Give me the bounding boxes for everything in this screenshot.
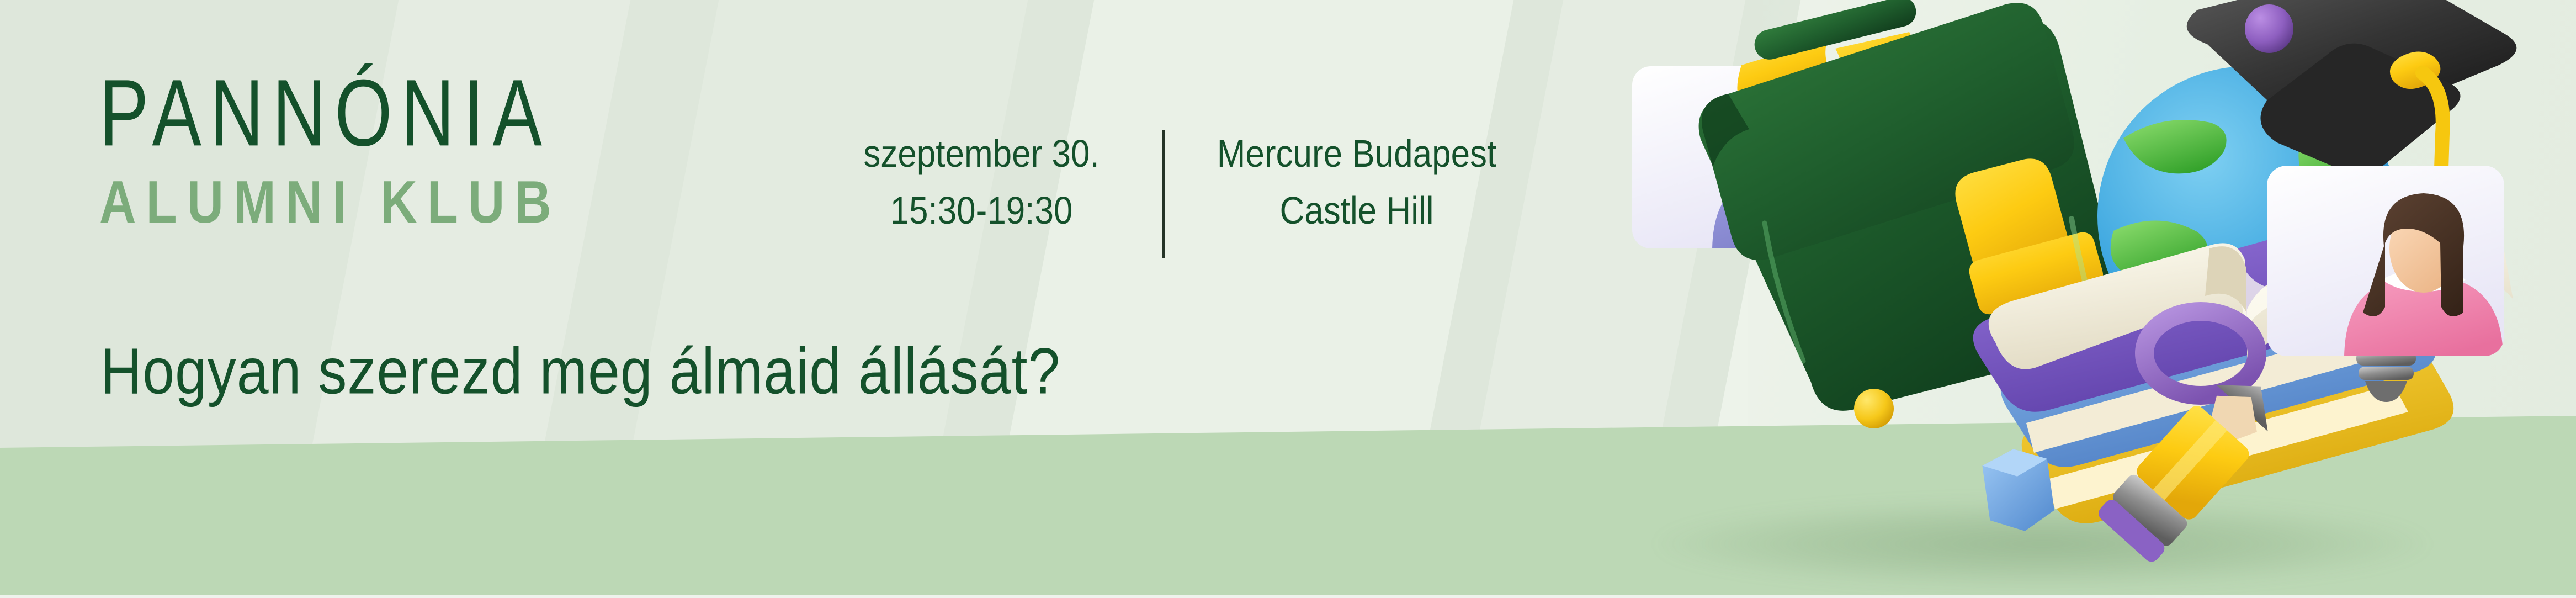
event-date-day: szeptember 30. — [827, 126, 1136, 183]
event-venue-location: Castle Hill — [1191, 183, 1522, 240]
event-venue: Mercure Budapest Castle Hill — [1191, 126, 1522, 240]
meta-divider — [1162, 130, 1165, 258]
event-meta: szeptember 30. 15:30-19:30 Mercure Budap… — [827, 126, 1522, 258]
wordmark-alumni-klub: ALUMNI KLUB — [99, 172, 773, 232]
banner-content: PANNÓNIA ALUMNI KLUB szeptember 30. 15:3… — [0, 0, 2576, 598]
brand-logo: PANNÓNIA ALUMNI KLUB — [99, 66, 773, 223]
wordmark-pannonia: PANNÓNIA — [99, 66, 773, 161]
event-date-time: 15:30-19:30 — [827, 183, 1136, 240]
event-venue-name: Mercure Budapest — [1191, 126, 1522, 183]
event-banner: PANNÓNIA ALUMNI KLUB szeptember 30. 15:3… — [0, 0, 2576, 598]
page-title: Hogyan szerezd meg álmaid állását? — [100, 339, 1060, 404]
event-date: szeptember 30. 15:30-19:30 — [827, 126, 1136, 240]
